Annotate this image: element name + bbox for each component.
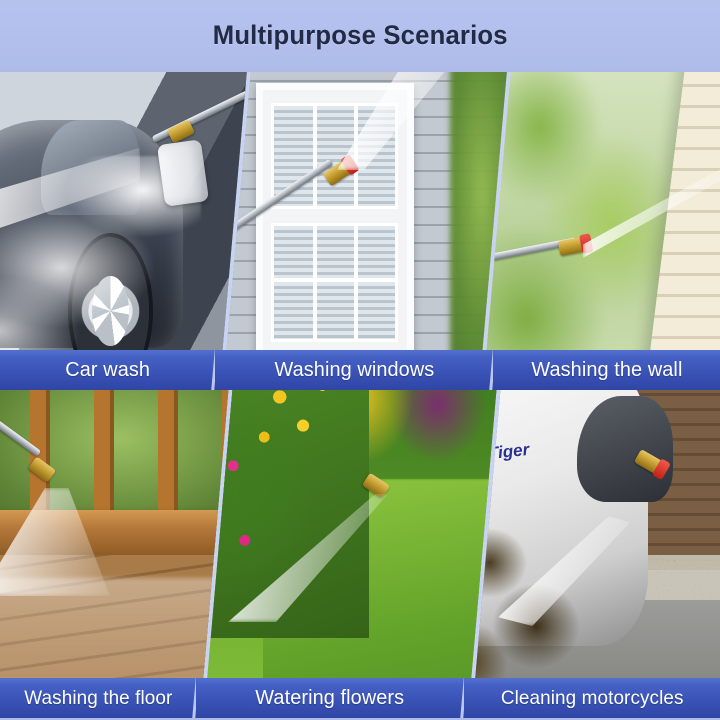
- scenario-panel-watering-flowers[interactable]: [200, 390, 499, 720]
- washing-the-wall-photo: [480, 70, 720, 390]
- scenario-label-washing-windows[interactable]: Washing windows: [215, 350, 493, 390]
- scenario-panel-washing-the-wall[interactable]: [480, 70, 720, 390]
- scenario-label-text: Washing the floor: [24, 687, 172, 710]
- scenario-label-text: Washing the wall: [531, 358, 682, 382]
- scenario-label-watering-flowers[interactable]: Watering flowers: [196, 678, 464, 718]
- scenario-panel-cleaning-motorcycles[interactable]: Tiger: [468, 390, 720, 720]
- label-bar-bottom: Washing the floor Watering flowers Clean…: [0, 678, 720, 718]
- scenario-label-washing-the-wall[interactable]: Washing the wall: [493, 350, 720, 390]
- washing-windows-photo: [220, 70, 510, 390]
- car-wash-photo: [0, 70, 250, 390]
- scenario-row-top: [0, 70, 720, 390]
- scenario-panel-car-wash[interactable]: [0, 70, 250, 390]
- window-mullion: [354, 226, 358, 340]
- washing-the-floor-photo: [0, 390, 232, 720]
- scenario-panel-washing-the-floor[interactable]: [0, 390, 232, 720]
- infographic-page: Multipurpose Scenarios: [0, 0, 720, 720]
- motorcycle-seat: [577, 396, 673, 502]
- scenario-label-washing-the-floor[interactable]: Washing the floor: [0, 678, 196, 718]
- scenario-panels-top: [0, 70, 720, 390]
- row-top-hairline: [0, 70, 720, 72]
- lance-tube: [152, 84, 251, 143]
- motorcycle-badge: Tiger: [487, 439, 530, 463]
- watering-flowers-photo: [200, 390, 499, 720]
- scenario-row-bottom: Tiger: [0, 390, 720, 720]
- scenario-panels-bottom: Tiger: [0, 390, 720, 720]
- scenario-label-car-wash[interactable]: Car wash: [0, 350, 215, 390]
- window-lower-pane: [271, 223, 398, 343]
- scenario-label-text: Cleaning motorcycles: [501, 687, 684, 710]
- page-title: Multipurpose Scenarios: [213, 20, 508, 51]
- scenario-label-text: Car wash: [65, 358, 150, 382]
- header-banner: Multipurpose Scenarios: [0, 0, 720, 70]
- window-mullion: [313, 226, 317, 340]
- scenario-label-text: Washing windows: [274, 358, 434, 382]
- foam-bottle: [157, 139, 209, 207]
- cleaning-motorcycles-photo: Tiger: [468, 390, 720, 720]
- scenario-panel-washing-windows[interactable]: [220, 70, 510, 390]
- window-mullion: [274, 278, 395, 282]
- scenario-label-text: Watering flowers: [256, 686, 405, 710]
- label-bar-top: Car wash Washing windows Washing the wal…: [0, 350, 720, 390]
- scenario-label-cleaning-motorcycles[interactable]: Cleaning motorcycles: [464, 678, 720, 718]
- window-mullion: [313, 106, 317, 206]
